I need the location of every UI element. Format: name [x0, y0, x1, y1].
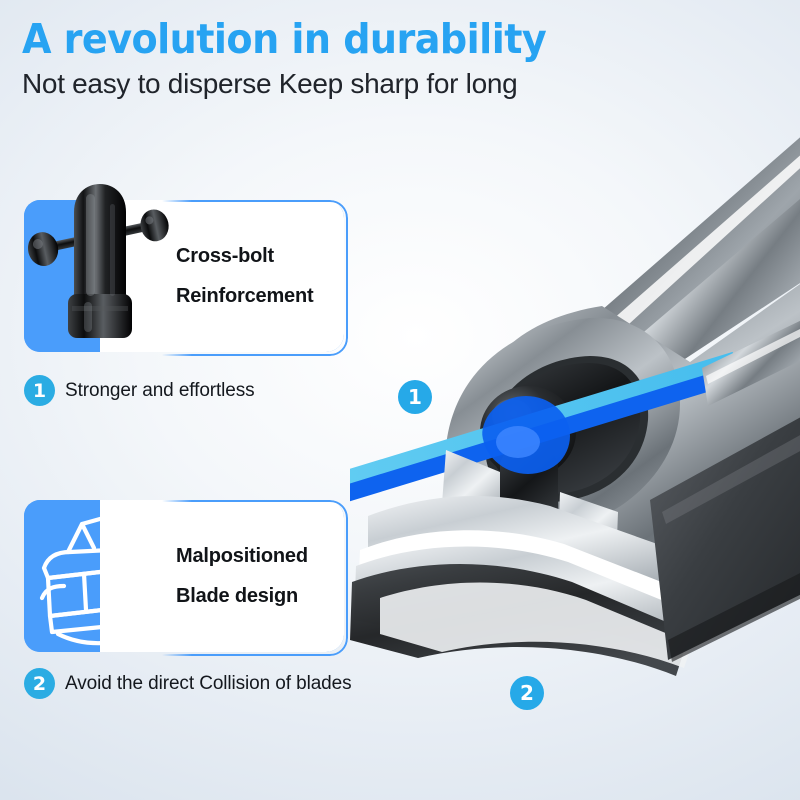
caption-badge-2: 2	[24, 668, 55, 699]
page-title: A revolution in durability	[22, 16, 617, 62]
feature-caption-1: 1 Stronger and effortless	[24, 375, 255, 406]
clipper-outline-icon	[24, 482, 176, 662]
feature-title-line1: Malpositioned	[176, 545, 348, 567]
caption-text-2: Avoid the direct Collision of blades	[65, 673, 352, 695]
photo-marker-2: 2	[510, 676, 544, 710]
caption-badge-1: 1	[24, 375, 55, 406]
header: A revolution in durability Not easy to d…	[22, 16, 662, 101]
feature-title-line2: Blade design	[176, 585, 348, 607]
feature-card-cross-bolt[interactable]: Cross-bolt Reinforcement	[24, 200, 344, 352]
feature-title-line2: Reinforcement	[176, 285, 348, 307]
caption-text-1: Stronger and effortless	[65, 380, 255, 402]
feature-title: Cross-bolt Reinforcement	[176, 200, 348, 352]
feature-card-blade-design[interactable]: Malpositioned Blade design	[24, 500, 344, 652]
feature-title: Malpositioned Blade design	[176, 500, 348, 652]
cross-bolt-icon	[24, 160, 176, 360]
infographic-canvas: A revolution in durability Not easy to d…	[0, 0, 800, 800]
photo-marker-1: 1	[398, 380, 432, 414]
feature-title-line1: Cross-bolt	[176, 245, 348, 267]
feature-caption-2: 2 Avoid the direct Collision of blades	[24, 668, 352, 699]
page-subtitle: Not easy to disperse Keep sharp for long	[22, 67, 662, 101]
